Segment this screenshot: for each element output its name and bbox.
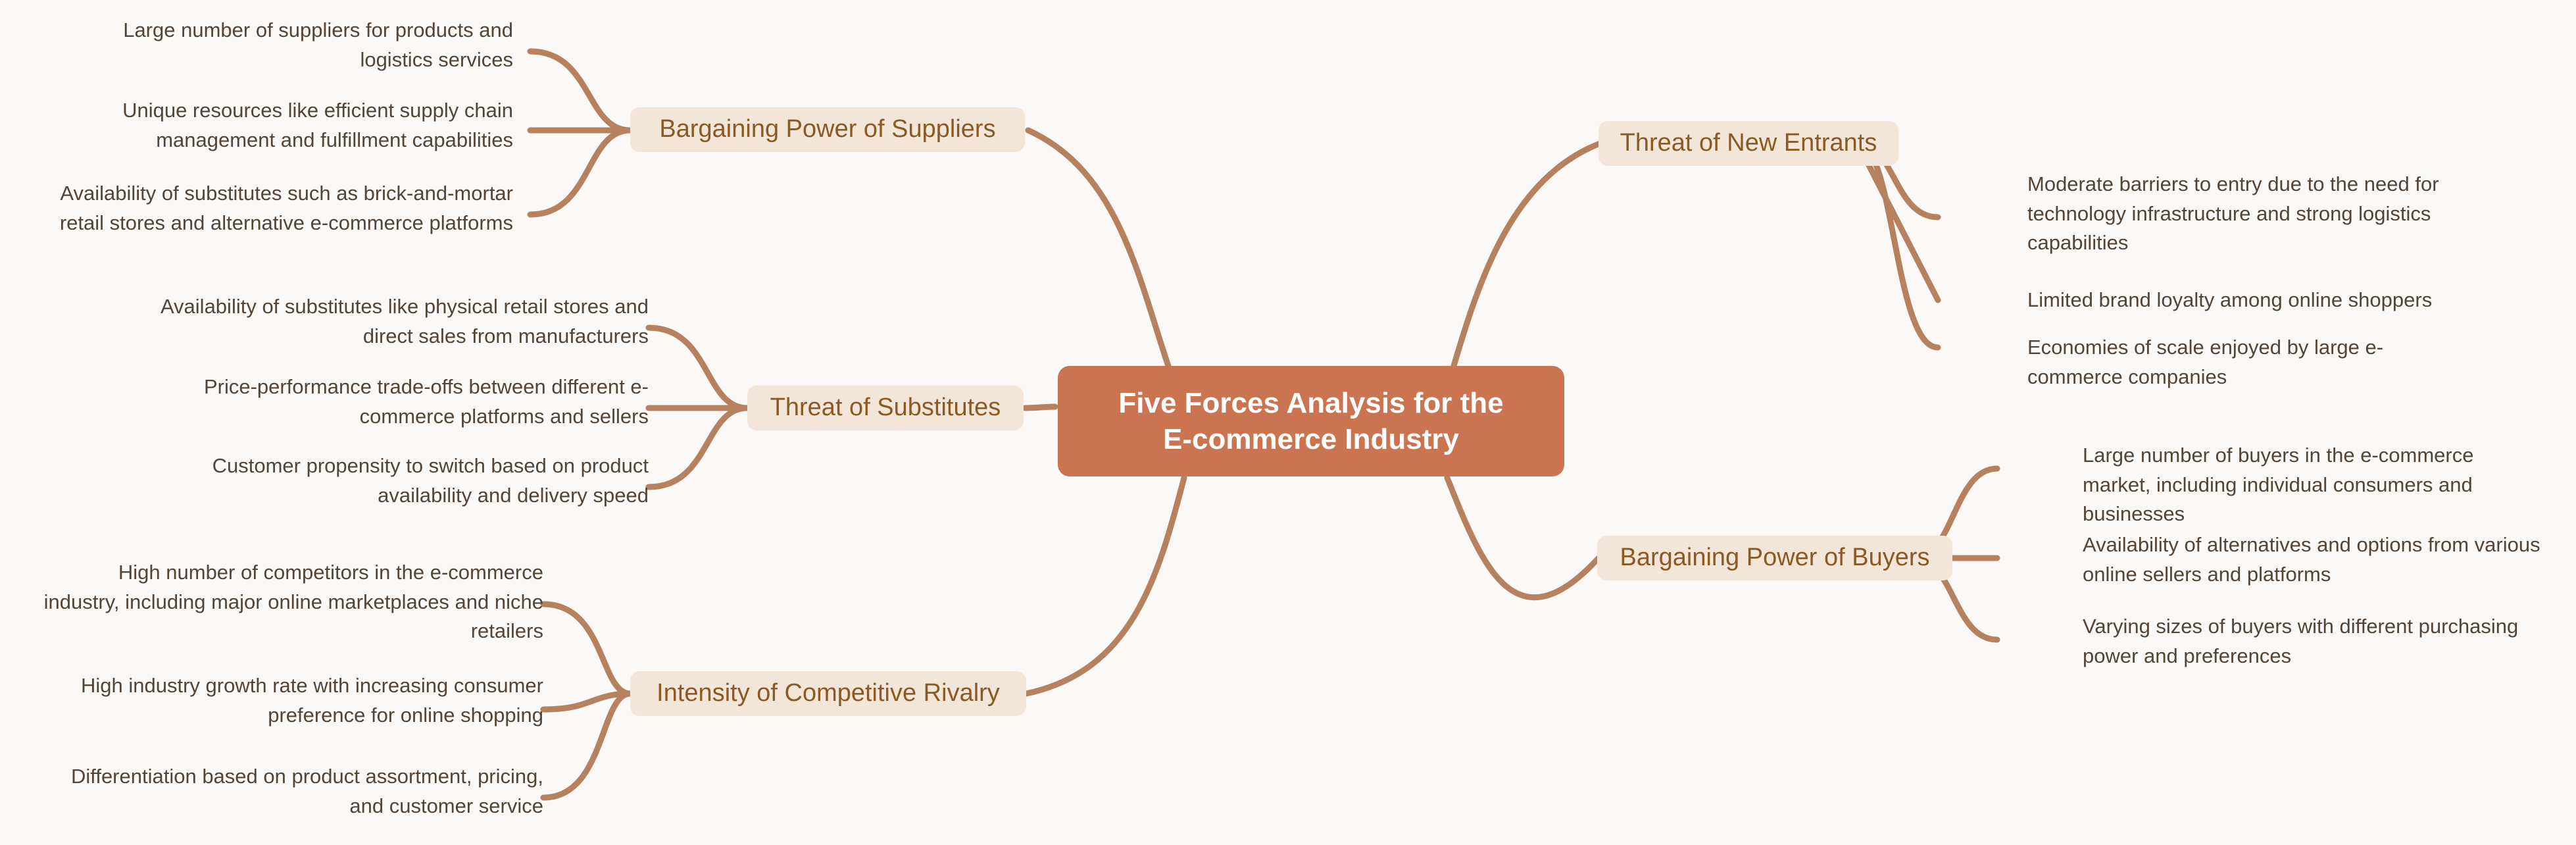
branch-node-new-entrants[interactable]: Threat of New Entrants (1598, 121, 1898, 166)
leaf-suppliers-2: Unique resources like efficient supply c… (72, 96, 513, 155)
leaf-new-entrants-3: Economies of scale enjoyed by large e-co… (2027, 333, 2475, 392)
edge-suppliers-leaf-1 (530, 51, 630, 130)
edge-root-rivalry (1026, 478, 1184, 694)
branch-node-buyers[interactable]: Bargaining Power of Buyers (1597, 536, 1952, 580)
branch-label-new-entrants: Threat of New Entrants (1620, 128, 1877, 159)
leaf-rivalry-1: High number of competitors in the e-comm… (43, 558, 543, 646)
leaf-new-entrants-2: Limited brand loyalty among online shopp… (2027, 286, 2488, 315)
edge-root-substitutes (1025, 407, 1055, 408)
leaf-rivalry-3: Differentiation based on product assortm… (43, 762, 543, 821)
leaf-new-entrants-1: Moderate barriers to entry due to the ne… (2027, 170, 2475, 258)
leaf-suppliers-3: Availability of substitutes such as bric… (39, 179, 513, 238)
leaf-buyers-2: Availability of alternatives and options… (2083, 530, 2543, 589)
leaf-substitutes-3: Customer propensity to switch based on p… (149, 451, 649, 510)
edge-new-entrants-leaf-2 (1858, 143, 1938, 300)
branch-node-substitutes[interactable]: Threat of Substitutes (747, 386, 1024, 430)
edge-rivalry-leaf-2 (543, 694, 630, 709)
branch-label-buyers: Bargaining Power of Buyers (1620, 543, 1929, 573)
edge-new-entrants-leaf-3 (1858, 143, 1938, 347)
branch-label-rivalry: Intensity of Competitive Rivalry (656, 679, 1000, 709)
edge-root-buyers (1447, 478, 1598, 598)
edge-suppliers-leaf-3 (530, 130, 630, 215)
root-title-line-2: E-commerce Industry (1163, 423, 1459, 455)
edge-rivalry-leaf-3 (543, 694, 630, 798)
mindmap-canvas: Five Forces Analysis for the E-commerce … (0, 0, 2576, 845)
leaf-buyers-1: Large number of buyers in the e-commerce… (2083, 441, 2537, 529)
branch-label-substitutes: Threat of Substitutes (770, 393, 1001, 423)
edge-root-suppliers (1028, 130, 1168, 366)
edge-substitutes-leaf-1 (649, 328, 747, 408)
leaf-buyers-3: Varying sizes of buyers with different p… (2083, 612, 2530, 671)
root-title-line-1: Five Forces Analysis for the (1118, 387, 1503, 419)
root-node[interactable]: Five Forces Analysis for the E-commerce … (1058, 366, 1564, 476)
leaf-rivalry-2: High industry growth rate with increasin… (17, 671, 543, 730)
edge-substitutes-leaf-3 (649, 408, 747, 487)
branch-node-suppliers[interactable]: Bargaining Power of Suppliers (630, 107, 1025, 152)
edge-root-new-entrants (1454, 143, 1600, 366)
branch-label-suppliers: Bargaining Power of Suppliers (659, 115, 995, 145)
leaf-suppliers-1: Large number of suppliers for products a… (72, 16, 513, 74)
edge-rivalry-leaf-1 (543, 604, 630, 694)
leaf-substitutes-2: Price-performance trade-offs between dif… (149, 372, 649, 431)
branch-node-rivalry[interactable]: Intensity of Competitive Rivalry (630, 671, 1026, 716)
leaf-substitutes-1: Availability of substitutes like physica… (149, 292, 649, 351)
